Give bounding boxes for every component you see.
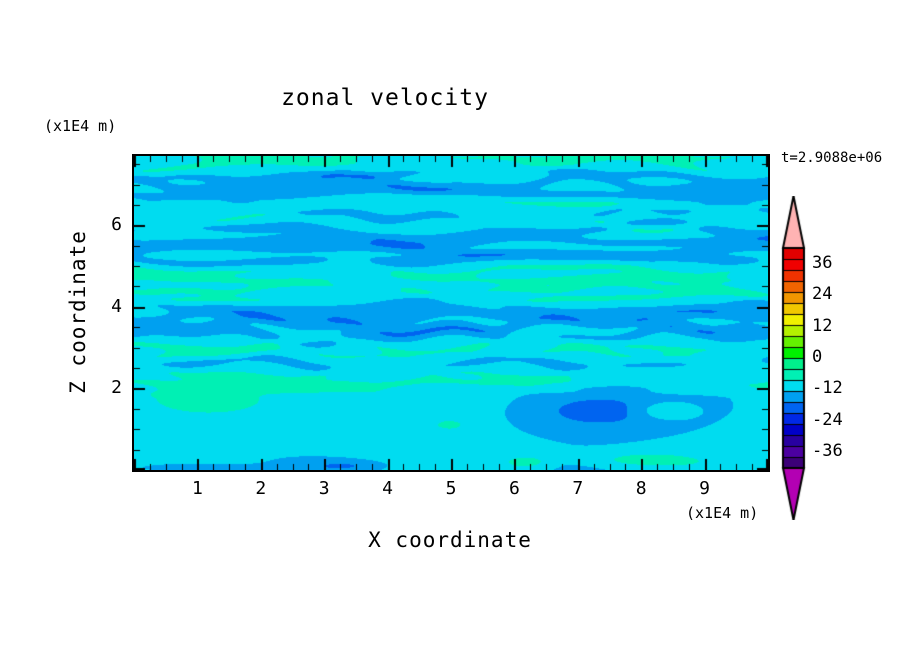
timestamp-annotation: t=2.9088e+06: [781, 150, 882, 166]
x-tick-label: 2: [246, 478, 276, 499]
x-tick-label: 1: [182, 478, 212, 499]
colorbar-gradient: [779, 196, 809, 520]
y-axis-unit-label: (x1E4 m): [44, 117, 116, 135]
x-tick-label: 8: [626, 478, 656, 499]
x-tick-label: 5: [436, 478, 466, 499]
colorbar-tick-label: 36: [812, 253, 832, 273]
x-tick-label: 9: [690, 478, 720, 499]
y-tick-label: 4: [96, 296, 122, 317]
colorbar: [779, 196, 809, 520]
colorbar-tick-label: 24: [812, 284, 832, 304]
x-tick-label: 4: [373, 478, 403, 499]
plot-area: [132, 154, 770, 472]
y-tick-label: 6: [96, 214, 122, 235]
y-tick-label: 2: [96, 377, 122, 398]
x-axis-title: X coordinate: [130, 528, 770, 552]
contour-field: [134, 156, 768, 470]
x-tick-label: 6: [499, 478, 529, 499]
colorbar-tick-label: -36: [812, 441, 843, 461]
y-axis-title: Z coordinate: [66, 212, 90, 412]
x-tick-label: 3: [309, 478, 339, 499]
colorbar-tick-label: 0: [812, 347, 822, 367]
page-title: zonal velocity: [0, 85, 770, 111]
colorbar-tick-label: 12: [812, 316, 832, 336]
colorbar-tick-label: -12: [812, 378, 843, 398]
x-tick-label: 7: [563, 478, 593, 499]
contour-figure: zonal velocity (x1E4 m) (x1E4 m) X coord…: [0, 0, 904, 654]
colorbar-tick-label: -24: [812, 410, 843, 430]
x-axis-unit-label: (x1E4 m): [686, 504, 758, 522]
